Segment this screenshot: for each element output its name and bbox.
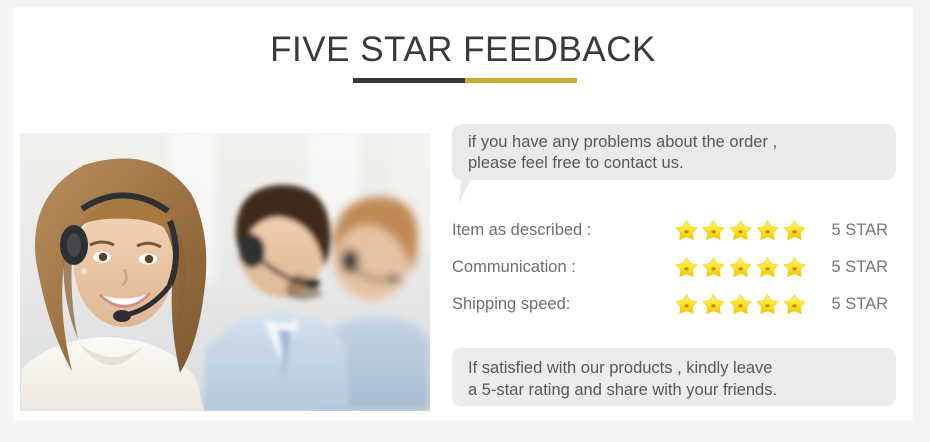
- rating-label: Communication :: [452, 258, 674, 277]
- feedback-banner: FIVE STAR FEEDBACK: [14, 8, 912, 420]
- star-icon: [728, 255, 753, 280]
- star-icon: [701, 292, 726, 317]
- rating-stars: [674, 292, 814, 317]
- rating-value: 5 STAR: [814, 258, 896, 277]
- contact-bubble-line-2: please feel free to contact us.: [468, 153, 896, 174]
- feedback-content: if you have any problems about the order…: [452, 124, 896, 414]
- rating-row-communication: Communication : 5 STAR: [452, 249, 896, 286]
- speech-bubble-tail: [459, 178, 472, 204]
- star-icon: [674, 292, 699, 317]
- star-icon: [755, 255, 780, 280]
- rating-value: 5 STAR: [814, 295, 896, 314]
- rating-stars: [674, 218, 814, 243]
- star-icon: [728, 292, 753, 317]
- title-underline: [353, 78, 577, 83]
- star-icon: [755, 218, 780, 243]
- star-icon: [782, 218, 807, 243]
- rating-label: Item as described :: [452, 221, 674, 240]
- star-icon: [755, 292, 780, 317]
- rating-row-item-as-described: Item as described : 5 STAR: [452, 212, 896, 249]
- rating-stars: [674, 255, 814, 280]
- page-title: FIVE STAR FEEDBACK: [14, 30, 912, 70]
- note-line-2: a 5-star rating and share with your frie…: [468, 379, 896, 401]
- note-line-1: If satisfied with our products , kindly …: [468, 357, 896, 379]
- rating-value: 5 STAR: [814, 221, 896, 240]
- contact-bubble-line-1: if you have any problems about the order…: [468, 132, 896, 153]
- title-underline-gold-segment: [465, 78, 577, 83]
- ratings-list: Item as described : 5 STAR Communication…: [452, 212, 896, 323]
- star-icon: [782, 292, 807, 317]
- call-center-photo: [20, 133, 430, 411]
- star-icon: [674, 218, 699, 243]
- star-icon: [674, 255, 699, 280]
- star-icon: [728, 218, 753, 243]
- rating-label: Shipping speed:: [452, 295, 674, 314]
- contact-speech-bubble: if you have any problems about the order…: [452, 124, 896, 180]
- star-icon: [701, 255, 726, 280]
- rating-request-note: If satisfied with our products , kindly …: [452, 348, 896, 406]
- rating-row-shipping-speed: Shipping speed: 5 STAR: [452, 286, 896, 323]
- call-center-photo-illustration: [20, 133, 430, 411]
- star-icon: [701, 218, 726, 243]
- banner-header: FIVE STAR FEEDBACK: [14, 8, 912, 108]
- title-underline-dark-segment: [353, 78, 465, 83]
- star-icon: [782, 255, 807, 280]
